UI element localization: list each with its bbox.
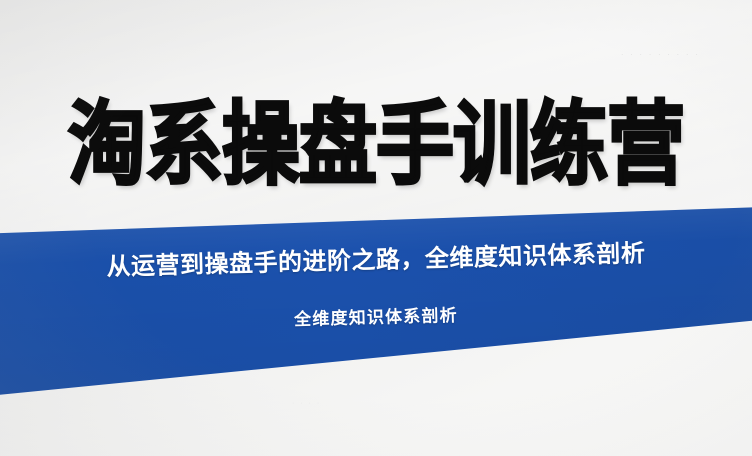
blue-banner: [0, 195, 752, 405]
banner-highlight: [0, 195, 752, 405]
watermark-top-right: · · · · · · · · ·: [621, 50, 700, 59]
poster-title: 淘系操盘手训练营: [0, 99, 752, 189]
course-poster: · · · · · · · · · 淘系操盘手训练营 从运营到操盘手的进阶之路，…: [0, 0, 752, 456]
watermark-bottom-center: · · · ·: [292, 400, 321, 407]
